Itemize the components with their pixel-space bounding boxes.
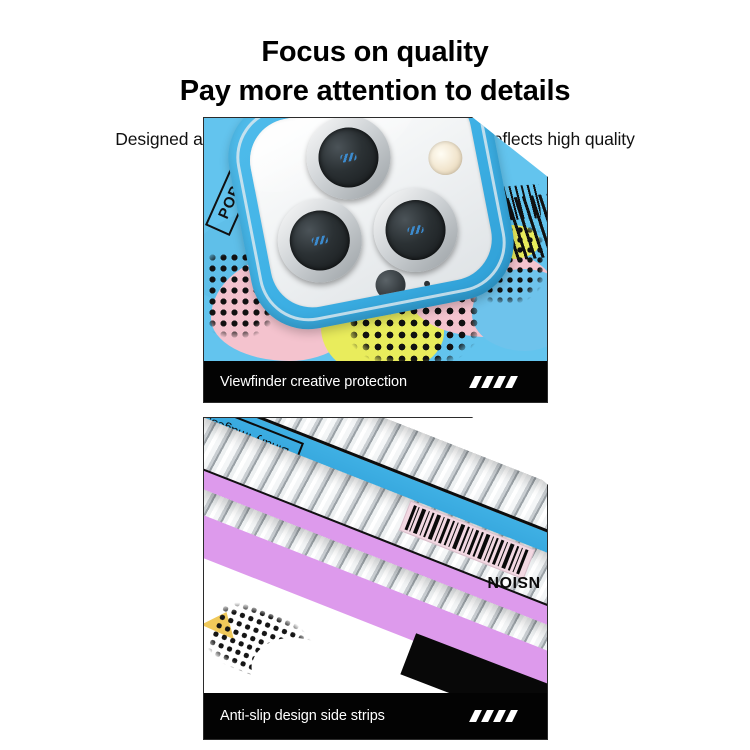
feature-panel-viewfinder: POP bbox=[203, 117, 548, 403]
caption-stripes-icon bbox=[472, 376, 515, 388]
feature-panel-anti-slip: Binary Images: -extreme (0 bbox=[203, 417, 548, 740]
panel-caption-viewfinder: Viewfinder creative protection bbox=[204, 361, 547, 402]
dimension-label: NSION bbox=[487, 572, 540, 590]
side-strip-artwork: Binary Images: -extreme (0 bbox=[204, 418, 547, 693]
caption-text: Viewfinder creative protection bbox=[220, 374, 407, 390]
product-photo-side-strips: Binary Images: -extreme (0 bbox=[204, 418, 547, 693]
headline-line-1: Focus on quality bbox=[0, 33, 750, 71]
caption-stripes-icon bbox=[472, 710, 515, 722]
page-title: Focus on quality Pay more attention to d… bbox=[0, 33, 750, 110]
product-photo-camera-module: POP bbox=[204, 118, 547, 361]
panel-caption-anti-slip: Anti-slip design side strips bbox=[204, 693, 547, 739]
headline-line-2: Pay more attention to details bbox=[0, 72, 750, 110]
caption-text: Anti-slip design side strips bbox=[220, 708, 385, 724]
case-back-pattern: POP bbox=[204, 118, 547, 361]
